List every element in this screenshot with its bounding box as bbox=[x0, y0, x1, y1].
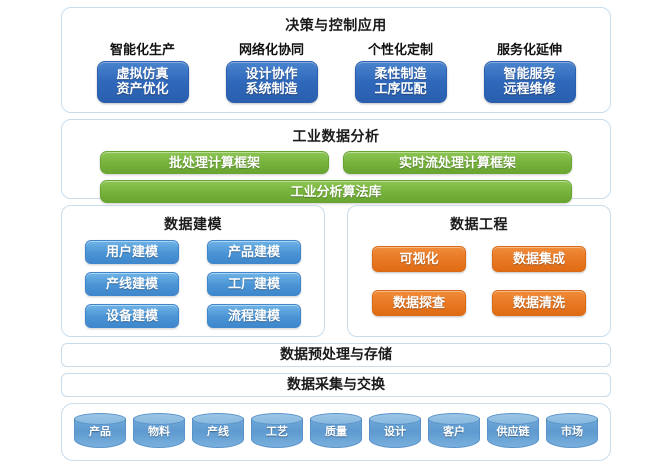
data-source-customer[interactable]: 客户 bbox=[428, 413, 480, 451]
modeling-item-process[interactable]: 流程建模 bbox=[207, 304, 301, 328]
panel-title-analysis: 工业数据分析 bbox=[70, 126, 602, 146]
data-source-label: 工艺 bbox=[251, 418, 303, 448]
modeling-item-factory[interactable]: 工厂建模 bbox=[207, 272, 301, 296]
modeling-item-user[interactable]: 用户建模 bbox=[85, 240, 179, 264]
architecture-diagram: 决策与控制应用 智能化生产 虚拟仿真 资产优化 网络化协同 设计协作 系统制造 … bbox=[61, 7, 611, 461]
panel-data-sources: 产品 物料 产线 工艺 质量 设计 bbox=[61, 403, 611, 461]
data-source-supply-chain[interactable]: 供应链 bbox=[487, 413, 539, 451]
data-source-label: 质量 bbox=[310, 418, 362, 448]
bar-data-collection-exchange[interactable]: 数据采集与交换 bbox=[61, 373, 611, 397]
industrial-analysis-algorithm-library[interactable]: 工业分析算法库 bbox=[100, 180, 572, 203]
data-engineering-grid: 可视化 数据集成 数据探查 数据清洗 bbox=[358, 240, 600, 316]
application-card-design-collaboration[interactable]: 设计协作 系统制造 bbox=[226, 61, 318, 103]
application-column-intelligent-production: 智能化生产 虚拟仿真 资产优化 bbox=[84, 39, 202, 103]
middle-row: 数据建模 用户建模 产品建模 产线建模 工厂建模 设备建模 流程建模 数据工程 … bbox=[61, 205, 611, 337]
panel-data-modeling: 数据建模 用户建模 产品建模 产线建模 工厂建模 设备建模 流程建模 bbox=[61, 205, 325, 337]
data-source-market[interactable]: 市场 bbox=[546, 413, 598, 451]
application-columns: 智能化生产 虚拟仿真 资产优化 网络化协同 设计协作 系统制造 个性化定制 柔性… bbox=[70, 39, 602, 103]
data-source-quality[interactable]: 质量 bbox=[310, 413, 362, 451]
engineering-item-data-exploration[interactable]: 数据探查 bbox=[372, 290, 466, 316]
engineering-item-data-integration[interactable]: 数据集成 bbox=[492, 246, 586, 272]
application-category-label: 网络化协同 bbox=[239, 39, 304, 58]
application-card-intelligent-service[interactable]: 智能服务 远程维修 bbox=[484, 61, 576, 103]
application-card-line2: 工序匹配 bbox=[358, 81, 444, 96]
engineering-item-visualization[interactable]: 可视化 bbox=[372, 246, 466, 272]
data-modeling-grid: 用户建模 产品建模 产线建模 工厂建模 设备建模 流程建模 bbox=[72, 240, 314, 328]
application-card-line2: 系统制造 bbox=[229, 81, 315, 96]
modeling-item-product[interactable]: 产品建模 bbox=[207, 240, 301, 264]
analysis-library-row: 工业分析算法库 bbox=[70, 180, 602, 203]
application-card-line1: 智能服务 bbox=[503, 66, 555, 81]
application-card-flexible-manufacturing[interactable]: 柔性制造 工序匹配 bbox=[355, 61, 447, 103]
analysis-framework-row: 批处理计算框架 实时流处理计算框架 bbox=[70, 151, 602, 174]
application-category-label: 服务化延伸 bbox=[497, 39, 562, 58]
framework-batch-processing[interactable]: 批处理计算框架 bbox=[100, 151, 329, 174]
data-source-label: 市场 bbox=[546, 418, 598, 448]
engineering-item-data-cleaning[interactable]: 数据清洗 bbox=[492, 290, 586, 316]
data-source-label: 产线 bbox=[192, 418, 244, 448]
data-source-label: 物料 bbox=[133, 418, 185, 448]
data-source-process[interactable]: 工艺 bbox=[251, 413, 303, 451]
panel-title-applications: 决策与控制应用 bbox=[70, 15, 602, 35]
modeling-item-production-line[interactable]: 产线建模 bbox=[85, 272, 179, 296]
modeling-item-equipment[interactable]: 设备建模 bbox=[85, 304, 179, 328]
bar-data-preprocessing-storage[interactable]: 数据预处理与存储 bbox=[61, 343, 611, 367]
framework-realtime-stream-processing[interactable]: 实时流处理计算框架 bbox=[343, 151, 572, 174]
application-column-service-extension: 服务化延伸 智能服务 远程维修 bbox=[471, 39, 589, 103]
application-category-label: 个性化定制 bbox=[368, 39, 433, 58]
data-source-material[interactable]: 物料 bbox=[133, 413, 185, 451]
application-card-virtual-simulation[interactable]: 虚拟仿真 资产优化 bbox=[97, 61, 189, 103]
panel-title-data-engineering: 数据工程 bbox=[358, 214, 600, 234]
panel-decision-control-applications: 决策与控制应用 智能化生产 虚拟仿真 资产优化 网络化协同 设计协作 系统制造 … bbox=[61, 7, 611, 113]
data-source-design[interactable]: 设计 bbox=[369, 413, 421, 451]
data-source-label: 设计 bbox=[369, 418, 421, 448]
data-source-label: 供应链 bbox=[487, 418, 539, 448]
application-card-line1: 虚拟仿真 bbox=[116, 66, 168, 81]
application-column-personalized-customization: 个性化定制 柔性制造 工序匹配 bbox=[342, 39, 460, 103]
application-card-line2: 资产优化 bbox=[100, 81, 186, 96]
application-category-label: 智能化生产 bbox=[110, 39, 175, 58]
data-source-label: 产品 bbox=[74, 418, 126, 448]
panel-data-engineering: 数据工程 可视化 数据集成 数据探查 数据清洗 bbox=[347, 205, 611, 337]
data-source-production-line[interactable]: 产线 bbox=[192, 413, 244, 451]
application-card-line1: 柔性制造 bbox=[374, 66, 426, 81]
panel-title-data-modeling: 数据建模 bbox=[72, 214, 314, 234]
application-card-line1: 设计协作 bbox=[245, 66, 297, 81]
application-column-networked-collaboration: 网络化协同 设计协作 系统制造 bbox=[213, 39, 331, 103]
data-source-label: 客户 bbox=[428, 418, 480, 448]
application-card-line2: 远程维修 bbox=[487, 81, 573, 96]
panel-industrial-data-analysis: 工业数据分析 批处理计算框架 实时流处理计算框架 工业分析算法库 bbox=[61, 119, 611, 199]
data-source-product[interactable]: 产品 bbox=[74, 413, 126, 451]
